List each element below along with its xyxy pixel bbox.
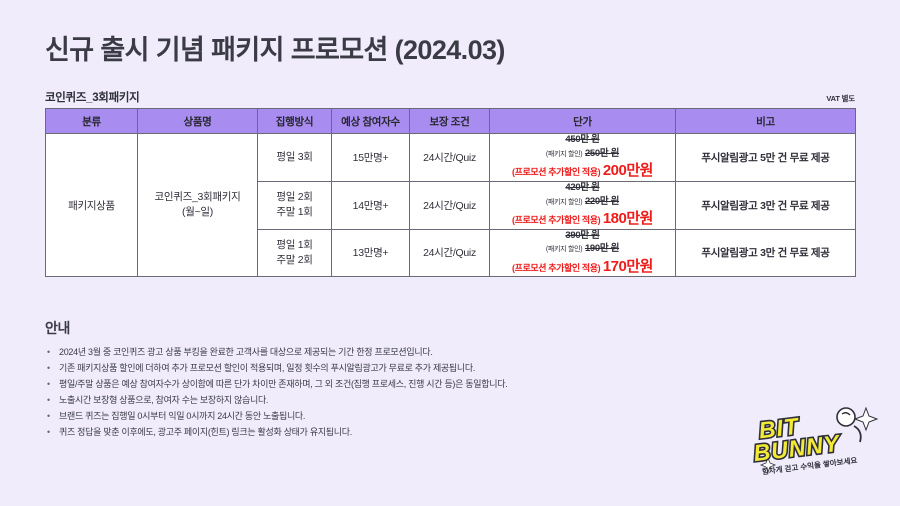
cell-product-name: 코인퀴즈_3회패키지 (월~일) (138, 134, 258, 277)
package-discount-label: (패키지 할인) (546, 151, 582, 158)
table-header-price: 단가 (490, 109, 676, 134)
cell-method: 평일 2회 주말 1회 (258, 181, 332, 229)
cell-method: 평일 3회 (258, 134, 332, 182)
notice-item: • 노출시간 보장형 상품으로, 참여자 수는 보장하지 않습니다. (45, 392, 765, 408)
notice-item: • 브랜드 퀴즈는 집행일 0시부터 익일 0시까지 24시간 동안 노출됩니다… (45, 408, 765, 424)
table-header-category: 분류 (46, 109, 138, 134)
promo-discount-label: (프로모션 추가할인 적용) (512, 215, 600, 225)
notice-item-text: 기존 패키지상품 할인에 더하여 추가 프로모션 할인이 적용되며, 일정 횟수… (59, 363, 475, 373)
bullet-icon: • (47, 408, 50, 424)
bullet-icon: • (47, 376, 50, 392)
cell-remark: 푸시알림광고 3만 건 무료 제공 (676, 181, 856, 229)
price-package-line: (패키지 할인) 250만 원 (490, 147, 675, 160)
table-caption: 코인퀴즈_3회패키지 (45, 89, 139, 105)
promotion-pricing-table: 분류 상품명 집행방식 예상 참여자수 보장 조건 단가 비고 패키지상품 코인… (45, 108, 856, 277)
price-final-line: (프로모션 추가할인 적용) 200만원 (490, 162, 675, 181)
cell-remark: 푸시알림광고 5만 건 무료 제공 (676, 134, 856, 182)
notice-item-text: 퀴즈 정답을 맞춘 이후에도, 광고주 페이지(힌트) 링크는 활성화 상태가 … (59, 427, 352, 437)
notice-item: • 기존 패키지상품 할인에 더하여 추가 프로모션 할인이 적용되며, 일정 … (45, 360, 765, 376)
notice-item: • 평일/주말 상품은 예상 참여자수가 상이함에 따른 단가 차이만 존재하며… (45, 376, 765, 392)
price-package: 220만 원 (585, 196, 619, 207)
cell-price: 390만 원 (패키지 할인) 190만 원 (프로모션 추가할인 적용) 17… (490, 229, 676, 277)
bullet-icon: • (47, 360, 50, 376)
promo-discount-label: (프로모션 추가할인 적용) (512, 263, 600, 273)
method-line2: 주말 2회 (276, 254, 312, 266)
price-package: 190만 원 (585, 243, 619, 254)
price-final: 200만원 (603, 162, 653, 179)
cell-participants: 14만명+ (332, 181, 410, 229)
method-line1: 평일 2회 (276, 191, 312, 203)
cell-guarantee: 24시간/Quiz (410, 134, 490, 182)
price-original: 450만 원 (490, 134, 675, 146)
bullet-icon: • (47, 392, 50, 408)
price-package-line: (패키지 할인) 190만 원 (490, 242, 675, 255)
package-discount-label: (패키지 할인) (546, 246, 582, 253)
cell-participants: 15만명+ (332, 134, 410, 182)
notice-item-text: 평일/주말 상품은 예상 참여자수가 상이함에 따른 단가 차이만 존재하며, … (59, 379, 507, 389)
promotion-slide: 신규 출시 기념 패키지 프로모션 (2024.03) 코인퀴즈_3회패키지 V… (0, 0, 900, 506)
price-final: 170만원 (603, 258, 653, 275)
notice-item: • 2024년 3월 중 코인퀴즈 광고 상품 부킹을 완료한 고객사를 대상으… (45, 344, 765, 360)
table-header-row: 분류 상품명 집행방식 예상 참여자수 보장 조건 단가 비고 (46, 109, 856, 134)
method-line1: 평일 3회 (276, 151, 312, 163)
price-original: 420만 원 (490, 182, 675, 194)
notice-title: 안내 (45, 318, 70, 338)
notice-item: • 퀴즈 정답을 맞춘 이후에도, 광고주 페이지(힌트) 링크는 활성화 상태… (45, 424, 765, 440)
vat-note: VAT 별도 (826, 93, 855, 105)
bullet-icon: • (47, 424, 50, 440)
package-discount-label: (패키지 할인) (546, 199, 582, 206)
cell-price: 420만 원 (패키지 할인) 220만 원 (프로모션 추가할인 적용) 18… (490, 181, 676, 229)
price-package-line: (패키지 할인) 220만 원 (490, 195, 675, 208)
method-line1: 평일 1회 (276, 239, 312, 251)
cell-guarantee: 24시간/Quiz (410, 229, 490, 277)
product-name-line2: (월~일) (182, 206, 213, 218)
table-header-method: 집행방식 (258, 109, 332, 134)
bit-bunny-logo: BIT BUNNY 힘차게 걷고 수익을 쌓아보세요 (742, 396, 882, 478)
cell-remark: 푸시알림광고 3만 건 무료 제공 (676, 229, 856, 277)
price-package: 250만 원 (585, 148, 619, 159)
notice-item-text: 브랜드 퀴즈는 집행일 0시부터 익일 0시까지 24시간 동안 노출됩니다. (59, 411, 305, 421)
product-name-line1: 코인퀴즈_3회패키지 (155, 191, 241, 203)
notice-list: • 2024년 3월 중 코인퀴즈 광고 상품 부킹을 완료한 고객사를 대상으… (45, 344, 765, 440)
table-header-participants: 예상 참여자수 (332, 109, 410, 134)
cell-guarantee: 24시간/Quiz (410, 181, 490, 229)
table-header-product: 상품명 (138, 109, 258, 134)
bullet-icon: • (47, 344, 50, 360)
price-final-line: (프로모션 추가할인 적용) 180만원 (490, 210, 675, 229)
logo-bunny-ear-icon (837, 408, 861, 442)
promo-discount-label: (프로모션 추가할인 적용) (512, 167, 600, 177)
notice-item-text: 노출시간 보장형 상품으로, 참여자 수는 보장하지 않습니다. (59, 395, 268, 405)
cell-price: 450만 원 (패키지 할인) 250만 원 (프로모션 추가할인 적용) 20… (490, 134, 676, 182)
table-caption-row: 코인퀴즈_3회패키지 VAT 별도 (45, 89, 855, 105)
method-line2: 주말 1회 (276, 206, 312, 218)
table-header-guarantee: 보장 조건 (410, 109, 490, 134)
cell-method: 평일 1회 주말 2회 (258, 229, 332, 277)
cell-participants: 13만명+ (332, 229, 410, 277)
notice-item-text: 2024년 3월 중 코인퀴즈 광고 상품 부킹을 완료한 고객사를 대상으로 … (59, 347, 433, 357)
price-final: 180만원 (603, 210, 653, 227)
table-header-remark: 비고 (676, 109, 856, 134)
price-original: 390만 원 (490, 230, 675, 242)
table-row: 패키지상품 코인퀴즈_3회패키지 (월~일) 평일 3회 15만명+ 24시간/… (46, 134, 856, 182)
cell-category: 패키지상품 (46, 134, 138, 277)
price-final-line: (프로모션 추가할인 적용) 170만원 (490, 258, 675, 277)
page-title: 신규 출시 기념 패키지 프로모션 (2024.03) (45, 28, 505, 67)
